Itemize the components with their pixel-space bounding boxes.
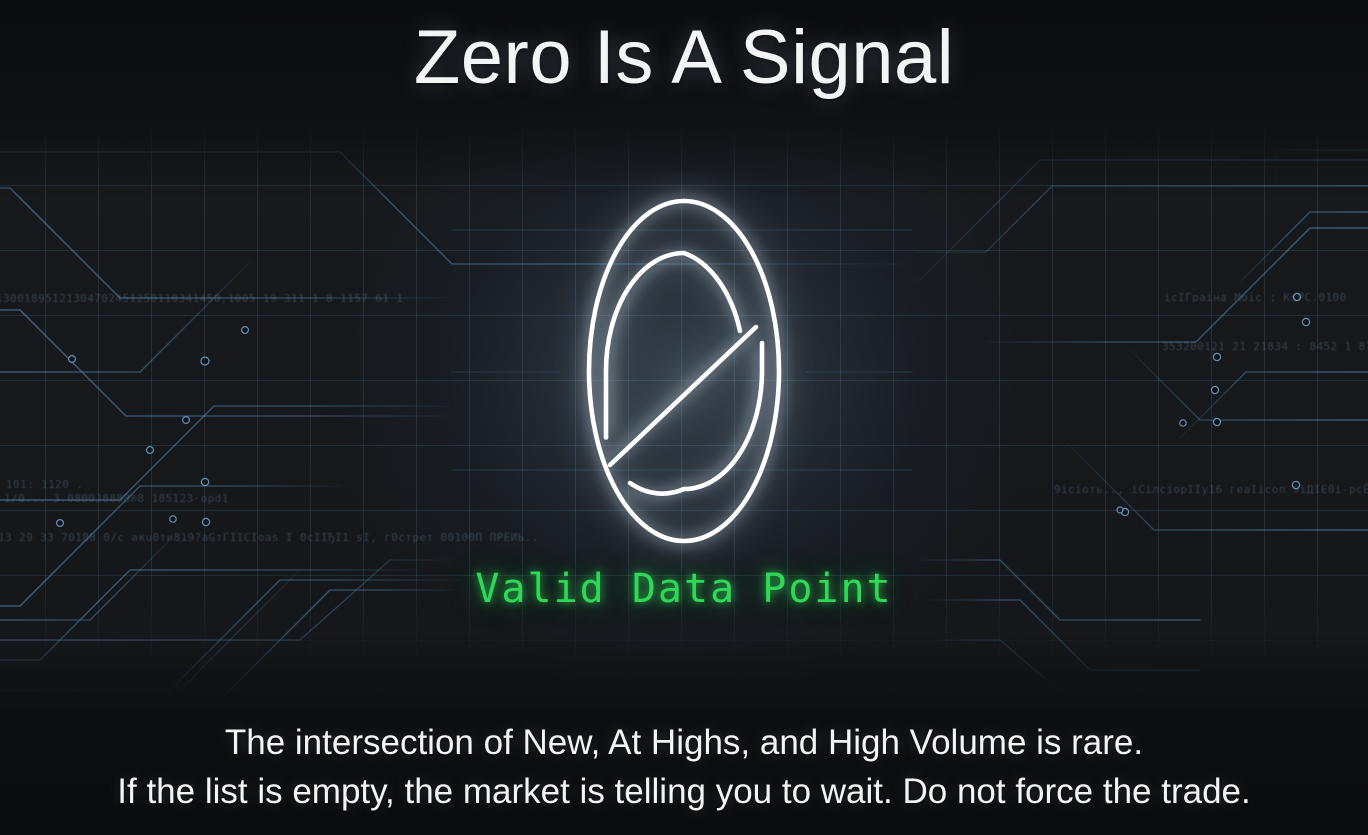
caption-line-1: The intersection of New, At Highs, and H… xyxy=(0,718,1368,768)
caption-line-2: If the list is empty, the market is tell… xyxy=(0,767,1368,817)
status-badge: Valid Data Point xyxy=(0,566,1368,612)
hero-glyph xyxy=(554,171,814,571)
signal-hero-screen: 13001895121304702451250110341450,1005 19… xyxy=(0,0,1368,835)
page-title: Zero Is A Signal xyxy=(0,14,1368,101)
caption-block: The intersection of New, At Highs, and H… xyxy=(0,718,1368,817)
slashed-zero-icon xyxy=(554,171,814,571)
